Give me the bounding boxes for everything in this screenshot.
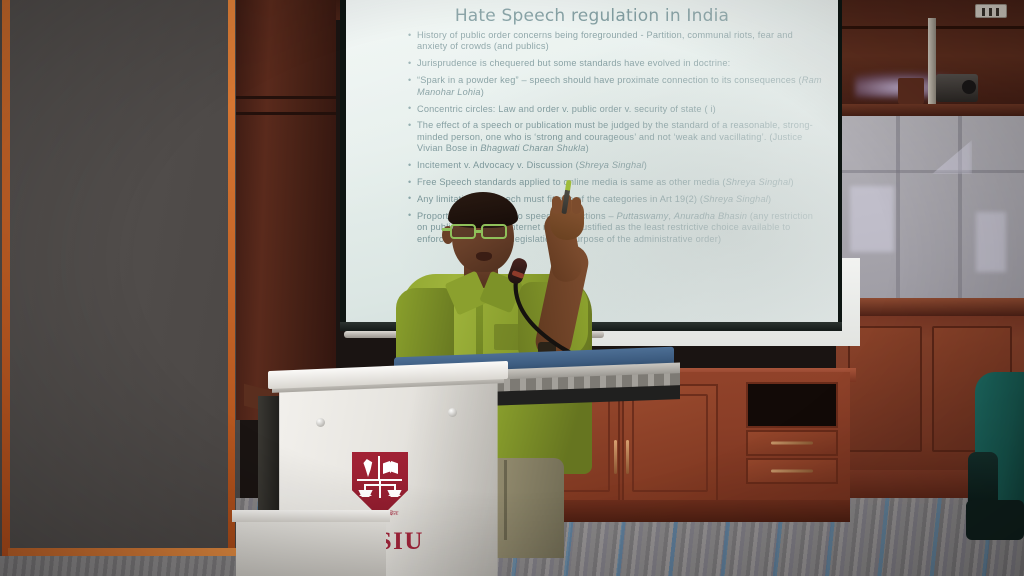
speaker-mouth bbox=[476, 252, 492, 261]
cabinet-door[interactable] bbox=[622, 384, 718, 502]
slide-bullet: “Spark in a powder keg” – speech should … bbox=[408, 75, 824, 98]
slide-title: Hate Speech regulation in India bbox=[360, 6, 824, 26]
left-wall bbox=[0, 0, 240, 576]
cabinet-drawer[interactable] bbox=[746, 458, 838, 484]
left-wall-trim-inner bbox=[228, 0, 235, 556]
trouser-seam bbox=[504, 460, 507, 540]
cabinet-drawer[interactable] bbox=[746, 430, 838, 456]
wood-column-left bbox=[236, 0, 336, 420]
slide-bullet: Jurisprudence is chequered but some stan… bbox=[408, 58, 824, 69]
slide-bullet: Concentric circles: Law and order v. pub… bbox=[408, 104, 824, 115]
frosted-window bbox=[836, 116, 1024, 302]
speaker-hair bbox=[448, 192, 518, 228]
chair-base bbox=[966, 500, 1024, 540]
lecture-hall-photo: ʕ Hate Speech regulation in India Histor… bbox=[0, 0, 1024, 576]
projector-mount-pole bbox=[928, 18, 936, 106]
power-socket-icon[interactable] bbox=[975, 4, 1007, 18]
left-wall-trim-outer bbox=[2, 0, 10, 560]
slide-bullet: Incitement v. Advocacy v. Discussion (Sh… bbox=[408, 160, 824, 171]
slide-bullet: Free Speech standards applied to online … bbox=[408, 177, 824, 188]
cabinet-open-shelf bbox=[746, 382, 838, 428]
carpet-left bbox=[0, 556, 240, 576]
dais-rail bbox=[836, 298, 1024, 316]
front-table-edge bbox=[232, 510, 390, 522]
eyeglasses bbox=[450, 224, 518, 239]
slide-bullet: The effect of a speech or publication mu… bbox=[408, 120, 824, 154]
front-white-table bbox=[236, 516, 386, 576]
podium-bolt bbox=[448, 408, 457, 417]
wall-mounted-box bbox=[898, 78, 924, 104]
left-wall-panel bbox=[10, 0, 232, 548]
projector-lens-icon bbox=[962, 80, 976, 94]
slide-bullet: History of public order concerns being f… bbox=[408, 30, 824, 53]
podium-bolt bbox=[316, 418, 325, 427]
